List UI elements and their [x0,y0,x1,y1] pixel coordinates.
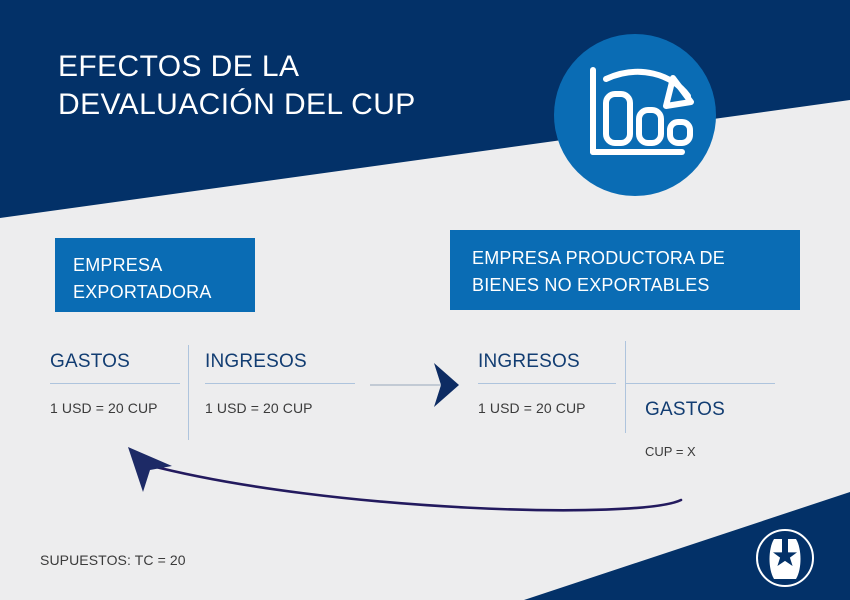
left-column-ingresos-rule [205,383,355,384]
left-column-ingresos-value: 1 USD = 20 CUP [205,398,355,418]
page-title: EFECTOS DE LA DEVALUACIÓN DEL CUP [58,48,528,124]
right-ledger-vertical-divider [625,341,626,433]
right-column-gastos-header: GASTOS [645,398,785,422]
left-column-gastos-rule [50,383,180,384]
entity-box-exporter: EMPRESA EXPORTADORA [55,238,255,312]
institution-monogram-logo [754,527,816,589]
left-column-gastos-value: 1 USD = 20 CUP [50,398,180,418]
left-column-ingresos-header: INGRESOS [205,350,355,374]
right-column-ingresos: INGRESOS 1 USD = 20 CUP [478,350,616,418]
left-ledger-vertical-divider [188,345,189,440]
declining-bar-chart-arrow-icon [554,34,716,196]
header-icon-badge [554,34,716,196]
entity-box-nonexport-producer: EMPRESA PRODUCTORA DE BIENES NO EXPORTAB… [450,230,800,310]
assumption-note: SUPUESTOS: TC = 20 [40,552,186,568]
left-column-gastos: GASTOS 1 USD = 20 CUP [50,350,180,418]
right-column-gastos-value: CUP = X [645,443,785,461]
right-column-gastos: GASTOS CUP = X [645,398,785,461]
right-column-ingresos-rule [478,383,616,384]
infographic-canvas: EFECTOS DE LA DEVALUACIÓN DEL CUP EMPRES… [0,0,850,600]
right-column-ingresos-value: 1 USD = 20 CUP [478,398,616,418]
left-column-ingresos: INGRESOS 1 USD = 20 CUP [205,350,355,418]
right-column-gastos-rule [625,383,775,384]
right-column-ingresos-header: INGRESOS [478,350,616,374]
left-column-gastos-header: GASTOS [50,350,180,374]
